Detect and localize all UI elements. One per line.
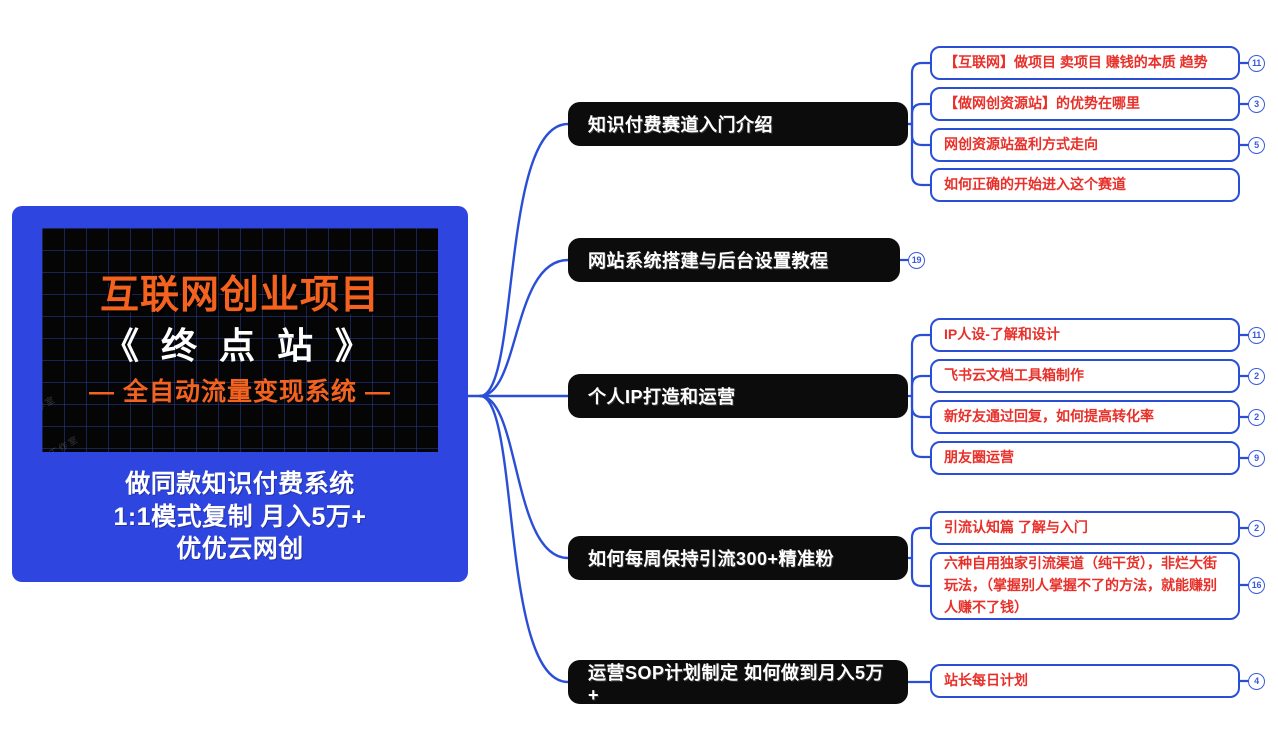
connector-center-to-branch-5 <box>480 396 568 682</box>
leaf-badge-1-3: 5 <box>1248 137 1265 154</box>
connector-branch3-leaf-4 <box>912 396 930 457</box>
leaf-node-3-2[interactable]: 飞书云文档工具箱制作 <box>930 359 1240 393</box>
leaf-badge-3-3: 2 <box>1248 409 1265 426</box>
leaf-badge-4-1: 2 <box>1248 520 1265 537</box>
leaf-badge-4-2: 16 <box>1248 577 1265 594</box>
center-subtitle-line-3: 优优云网创 <box>113 533 366 566</box>
leaf-node-3-3[interactable]: 新好友通过回复，如何提高转化率 <box>930 400 1240 434</box>
connector-branch1-leaf-2 <box>912 104 930 124</box>
leaf-badge-1-1: 11 <box>1248 55 1265 72</box>
leaf-badge-1-2: 3 <box>1248 96 1265 113</box>
leaf-node-4-1[interactable]: 引流认知篇 了解与入门 <box>930 511 1240 545</box>
leaf-node-1-1[interactable]: 【互联网】做项目 卖项目 赚钱的本质 趋势 <box>930 46 1240 80</box>
center-subtitle: 做同款知识付费系统 1:1模式复制 月入5万+ 优优云网创 <box>113 468 366 566</box>
connector-branch4-leaf-2 <box>912 558 930 586</box>
poster-tagline: — 全自动流量变现系统 — <box>89 380 391 405</box>
poster-title: 《 终 点 站 》 <box>103 328 377 364</box>
connector-center-to-branch-4 <box>480 396 568 558</box>
connector-center-to-branch-1 <box>468 124 568 396</box>
leaf-badge-3-4: 9 <box>1248 450 1265 467</box>
center-node[interactable]: 优优云网创工作室 优优云网创工作室 优优云网创工作室 优优云网创工作室 优优云网… <box>12 206 468 582</box>
leaf-node-1-3[interactable]: 网创资源站盈利方式走向 <box>930 128 1240 162</box>
poster-headline: 互联网创业项目 <box>100 276 380 315</box>
connector-center-to-branch-2 <box>480 260 568 396</box>
connector-branch3-leaf-1 <box>912 335 930 396</box>
connector-branch3-leaf-3 <box>912 396 930 417</box>
branch-badge-2: 19 <box>908 252 925 269</box>
leaf-node-1-4[interactable]: 如何正确的开始进入这个赛道 <box>930 168 1240 202</box>
leaf-node-5-1[interactable]: 站长每日计划 <box>930 664 1240 698</box>
branch-node-3[interactable]: 个人IP打造和运营 <box>568 374 908 418</box>
center-poster-image: 优优云网创工作室 优优云网创工作室 优优云网创工作室 优优云网创工作室 优优云网… <box>42 228 438 452</box>
leaf-badge-3-1: 11 <box>1248 327 1265 344</box>
leaf-node-1-2[interactable]: 【做网创资源站】的优势在哪里 <box>930 87 1240 121</box>
connector-branch1-leaf-1 <box>912 63 930 124</box>
connector-branch1-leaf-4 <box>912 124 930 185</box>
connector-branch3-leaf-2 <box>912 376 930 396</box>
mindmap-canvas: 优优云网创工作室 优优云网创工作室 优优云网创工作室 优优云网创工作室 优优云网… <box>0 0 1278 750</box>
leaf-node-4-2[interactable]: 六种自用独家引流渠道（纯干货），非烂大街玩法，（掌握别人掌握不了的方法，就能赚别… <box>930 552 1240 620</box>
branch-node-4[interactable]: 如何每周保持引流300+精准粉 <box>568 536 908 580</box>
leaf-badge-5-1: 4 <box>1248 673 1265 690</box>
branch-node-1[interactable]: 知识付费赛道入门介绍 <box>568 102 908 146</box>
connector-branch1-leaf-3 <box>912 124 930 145</box>
center-subtitle-line-1: 做同款知识付费系统 <box>113 468 366 501</box>
leaf-node-3-4[interactable]: 朋友圈运营 <box>930 441 1240 475</box>
leaf-node-3-1[interactable]: IP人设-了解和设计 <box>930 318 1240 352</box>
center-subtitle-line-2: 1:1模式复制 月入5万+ <box>113 501 366 534</box>
leaf-badge-3-2: 2 <box>1248 368 1265 385</box>
connector-branch4-leaf-1 <box>912 528 930 558</box>
branch-node-2[interactable]: 网站系统搭建与后台设置教程 <box>568 238 900 282</box>
branch-node-5[interactable]: 运营SOP计划制定 如何做到月入5万+ <box>568 660 908 704</box>
